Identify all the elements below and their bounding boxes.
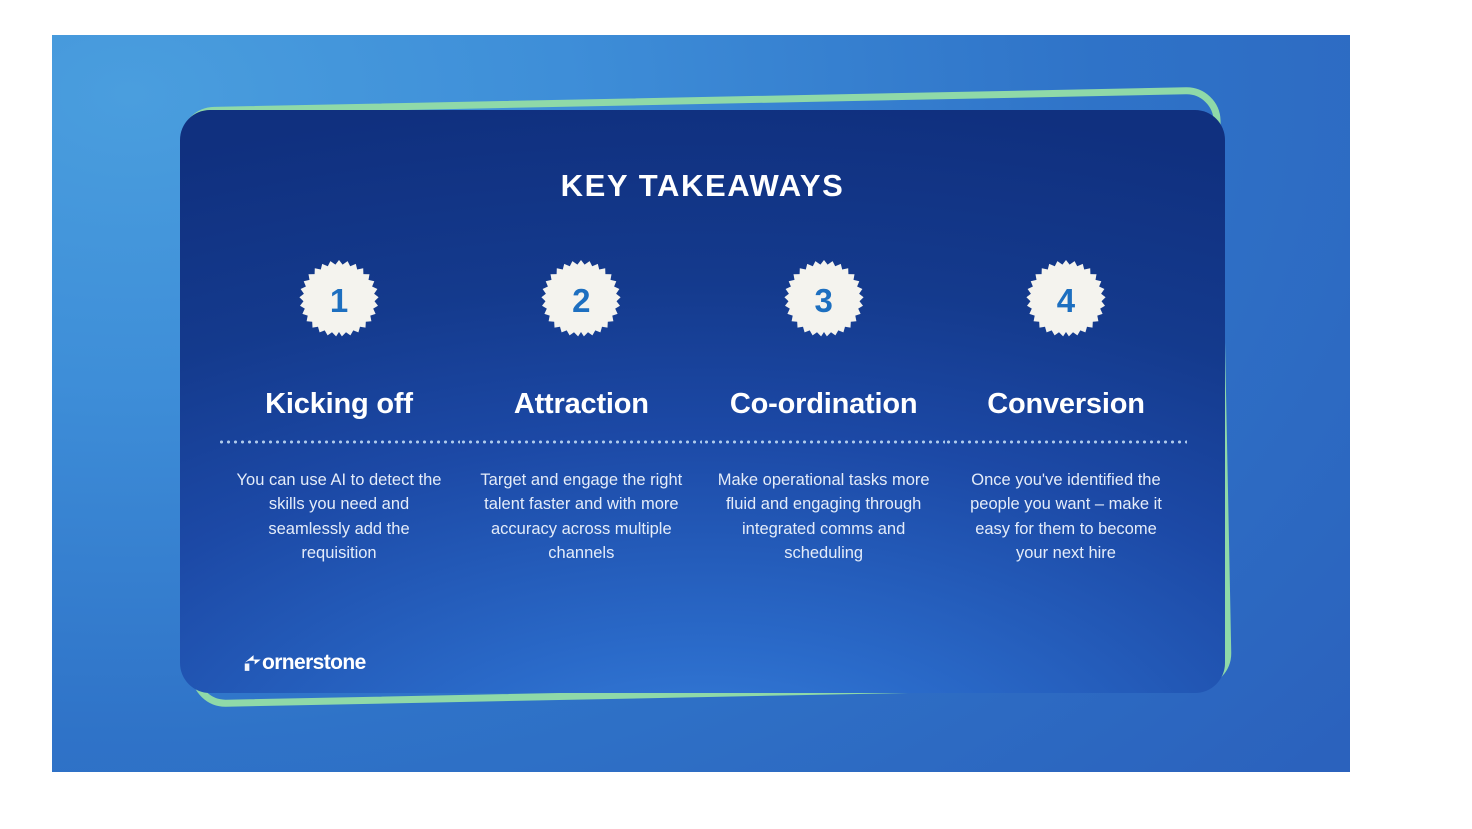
logo-wordmark: ornerstone — [262, 651, 366, 675]
dotted-divider — [945, 440, 1187, 444]
badge-number: 3 — [814, 284, 832, 317]
dotted-divider — [703, 440, 945, 444]
badge-number: 1 — [330, 284, 348, 317]
takeaway-heading: Conversion — [987, 388, 1145, 421]
badge-3: 3 — [782, 258, 866, 342]
dotted-divider — [218, 440, 460, 444]
takeaway-body: Make operational tasks more fluid and en… — [718, 468, 930, 566]
cornerstone-logo: ornerstone — [242, 651, 366, 675]
page-title: KEY TAKEAWAYS — [180, 168, 1225, 204]
takeaway-column-3: 3 Co-ordination Make operational tasks m… — [703, 258, 945, 566]
takeaway-heading: Co-ordination — [730, 388, 917, 421]
cornerstone-arrow-mark — [242, 652, 264, 674]
badge-4: 4 — [1024, 258, 1108, 342]
takeaway-column-4: 4 Conversion Once you've identified the … — [945, 258, 1187, 566]
slide-page: KEY TAKEAWAYS 1 Kicking off You can use … — [0, 0, 1472, 829]
takeaway-column-1: 1 Kicking off You can use AI to detect t… — [218, 258, 460, 566]
slide-canvas: KEY TAKEAWAYS 1 Kicking off You can use … — [52, 35, 1350, 772]
badge-2: 2 — [539, 258, 623, 342]
badge-number: 4 — [1057, 284, 1075, 317]
dotted-divider — [460, 440, 702, 444]
badge-number: 2 — [572, 284, 590, 317]
takeaways-columns: 1 Kicking off You can use AI to detect t… — [218, 258, 1187, 566]
takeaway-body: You can use AI to detect the skills you … — [233, 468, 445, 566]
takeaway-heading: Attraction — [514, 388, 649, 421]
takeaway-heading: Kicking off — [265, 388, 413, 421]
key-takeaways-card: KEY TAKEAWAYS 1 Kicking off You can use … — [180, 110, 1225, 693]
takeaway-column-2: 2 Attraction Target and engage the right… — [460, 258, 702, 566]
takeaway-body: Target and engage the right talent faste… — [475, 468, 687, 566]
badge-1: 1 — [297, 258, 381, 342]
takeaway-body: Once you've identified the people you wa… — [960, 468, 1172, 566]
